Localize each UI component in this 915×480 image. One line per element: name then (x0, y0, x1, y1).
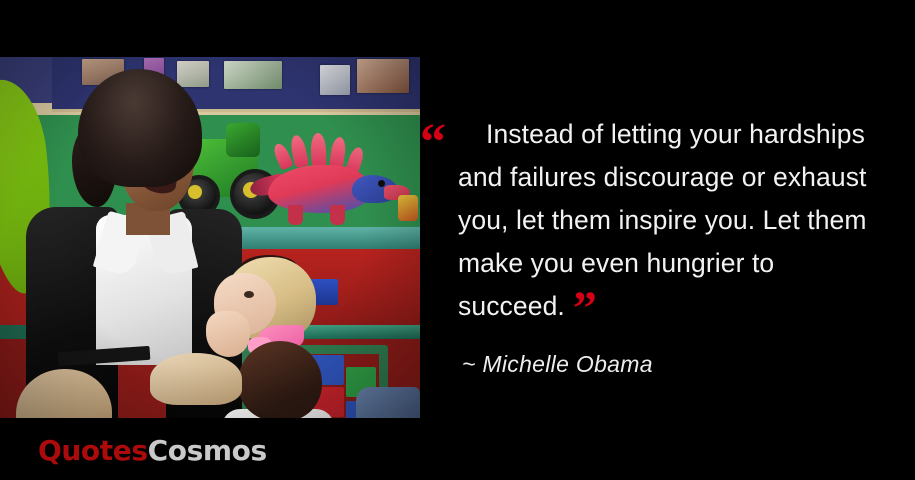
quote-card: “ Instead of letting your hardships and … (0, 0, 915, 480)
dinosaur-eye (378, 180, 385, 187)
footer-bar: QuotesCosmos (0, 418, 915, 480)
quote-attribution: ~ Michelle Obama (462, 351, 653, 378)
logo-text-quotes: Quotes (38, 434, 148, 467)
opening-quote-icon: “ (420, 117, 443, 169)
dark-haired-girl-hair (238, 341, 322, 418)
classroom-scene (0, 57, 420, 418)
blonde-girl-eye (244, 291, 254, 298)
toddler-hair (150, 353, 242, 405)
quote-text: Instead of letting your hardships and fa… (458, 113, 890, 328)
board-photo (357, 59, 409, 93)
closing-quote-icon: ” (573, 282, 594, 335)
board-photo (320, 65, 350, 95)
quote-area: “ Instead of letting your hardships and … (420, 57, 915, 418)
quote-body: Instead of letting your hardships and fa… (458, 119, 867, 321)
quote-block: Instead of letting your hardships and fa… (458, 113, 890, 328)
board-photo (177, 61, 209, 87)
blonde-girl-hand (206, 311, 250, 357)
dinosaur-leg (330, 205, 345, 225)
board-photo (224, 61, 282, 89)
quote-photo (0, 57, 420, 418)
toy-tractor-cab (226, 123, 260, 157)
logo-text-cosmos: Cosmos (148, 434, 267, 467)
dinosaur-leg (288, 205, 303, 225)
tractor-wheel-hub (188, 185, 202, 199)
quotescosmos-logo[interactable]: QuotesCosmos (38, 434, 267, 467)
child-jeans (356, 387, 420, 418)
small-toy (398, 195, 418, 221)
